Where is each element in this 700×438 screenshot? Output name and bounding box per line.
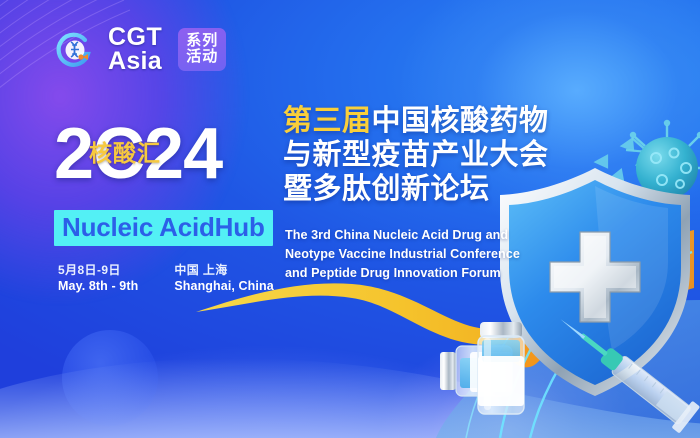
nucleic-acidhub-bar: Nucleic AcidHub [54, 210, 273, 246]
title-edition-label: 第三届 [283, 105, 372, 137]
conference-poster: CGT Asia 系列 活动 2C24 核酸汇 Nucleic AcidHub … [0, 0, 700, 438]
main-title: 第三届中国核酸药物 与新型疫苗产业大会 暨多肽创新论坛 [283, 104, 583, 207]
event-meta: 5月8日-9日 May. 8th - 9th 中国 上海 Shanghai, C… [58, 262, 274, 295]
event-date: 5月8日-9日 May. 8th - 9th [58, 262, 138, 295]
badge-line-2: 活动 [186, 49, 218, 65]
hero-year-prefix: 2 [54, 114, 93, 194]
subtitle-line-2: Neotype Vaccine Industrial Conference [285, 245, 577, 264]
hero-year-lockup: 2C24 核酸汇 Nucleic AcidHub [54, 118, 284, 248]
subtitle-line-3: and Peptide Drug Innovation Forum [285, 264, 577, 283]
event-place-cn: 中国 上海 [174, 262, 273, 278]
cgt-asia-dna-logo-icon [52, 27, 98, 73]
event-place: 中国 上海 Shanghai, China [174, 262, 273, 295]
cgt-asia-logo-text: CGT Asia [108, 26, 162, 73]
hero-chinese-overlay: 核酸汇 [89, 134, 161, 168]
title-line-3: 暨多肽创新论坛 [283, 172, 583, 206]
event-place-en: Shanghai, China [174, 278, 273, 295]
badge-line-1: 系列 [186, 33, 218, 49]
event-date-cn: 5月8日-9日 [58, 262, 138, 278]
title-line-1-rest: 中国核酸药物 [372, 105, 549, 137]
event-date-en: May. 8th - 9th [58, 278, 138, 295]
cgt-asia-logo[interactable]: CGT Asia 系列 活动 [52, 26, 226, 73]
logo-line-asia: Asia [108, 50, 162, 73]
title-line-2: 与新型疫苗产业大会 [283, 138, 583, 172]
nucleic-acidhub-label: Nucleic AcidHub [62, 212, 265, 242]
title-line-1: 第三届中国核酸药物 [283, 104, 583, 138]
subtitle-line-1: The 3rd China Nucleic Acid Drug and [285, 226, 577, 245]
logo-line-cgt: CGT [108, 26, 162, 49]
english-subtitle: The 3rd China Nucleic Acid Drug and Neot… [285, 226, 577, 283]
series-activity-badge: 系列 活动 [178, 28, 226, 71]
